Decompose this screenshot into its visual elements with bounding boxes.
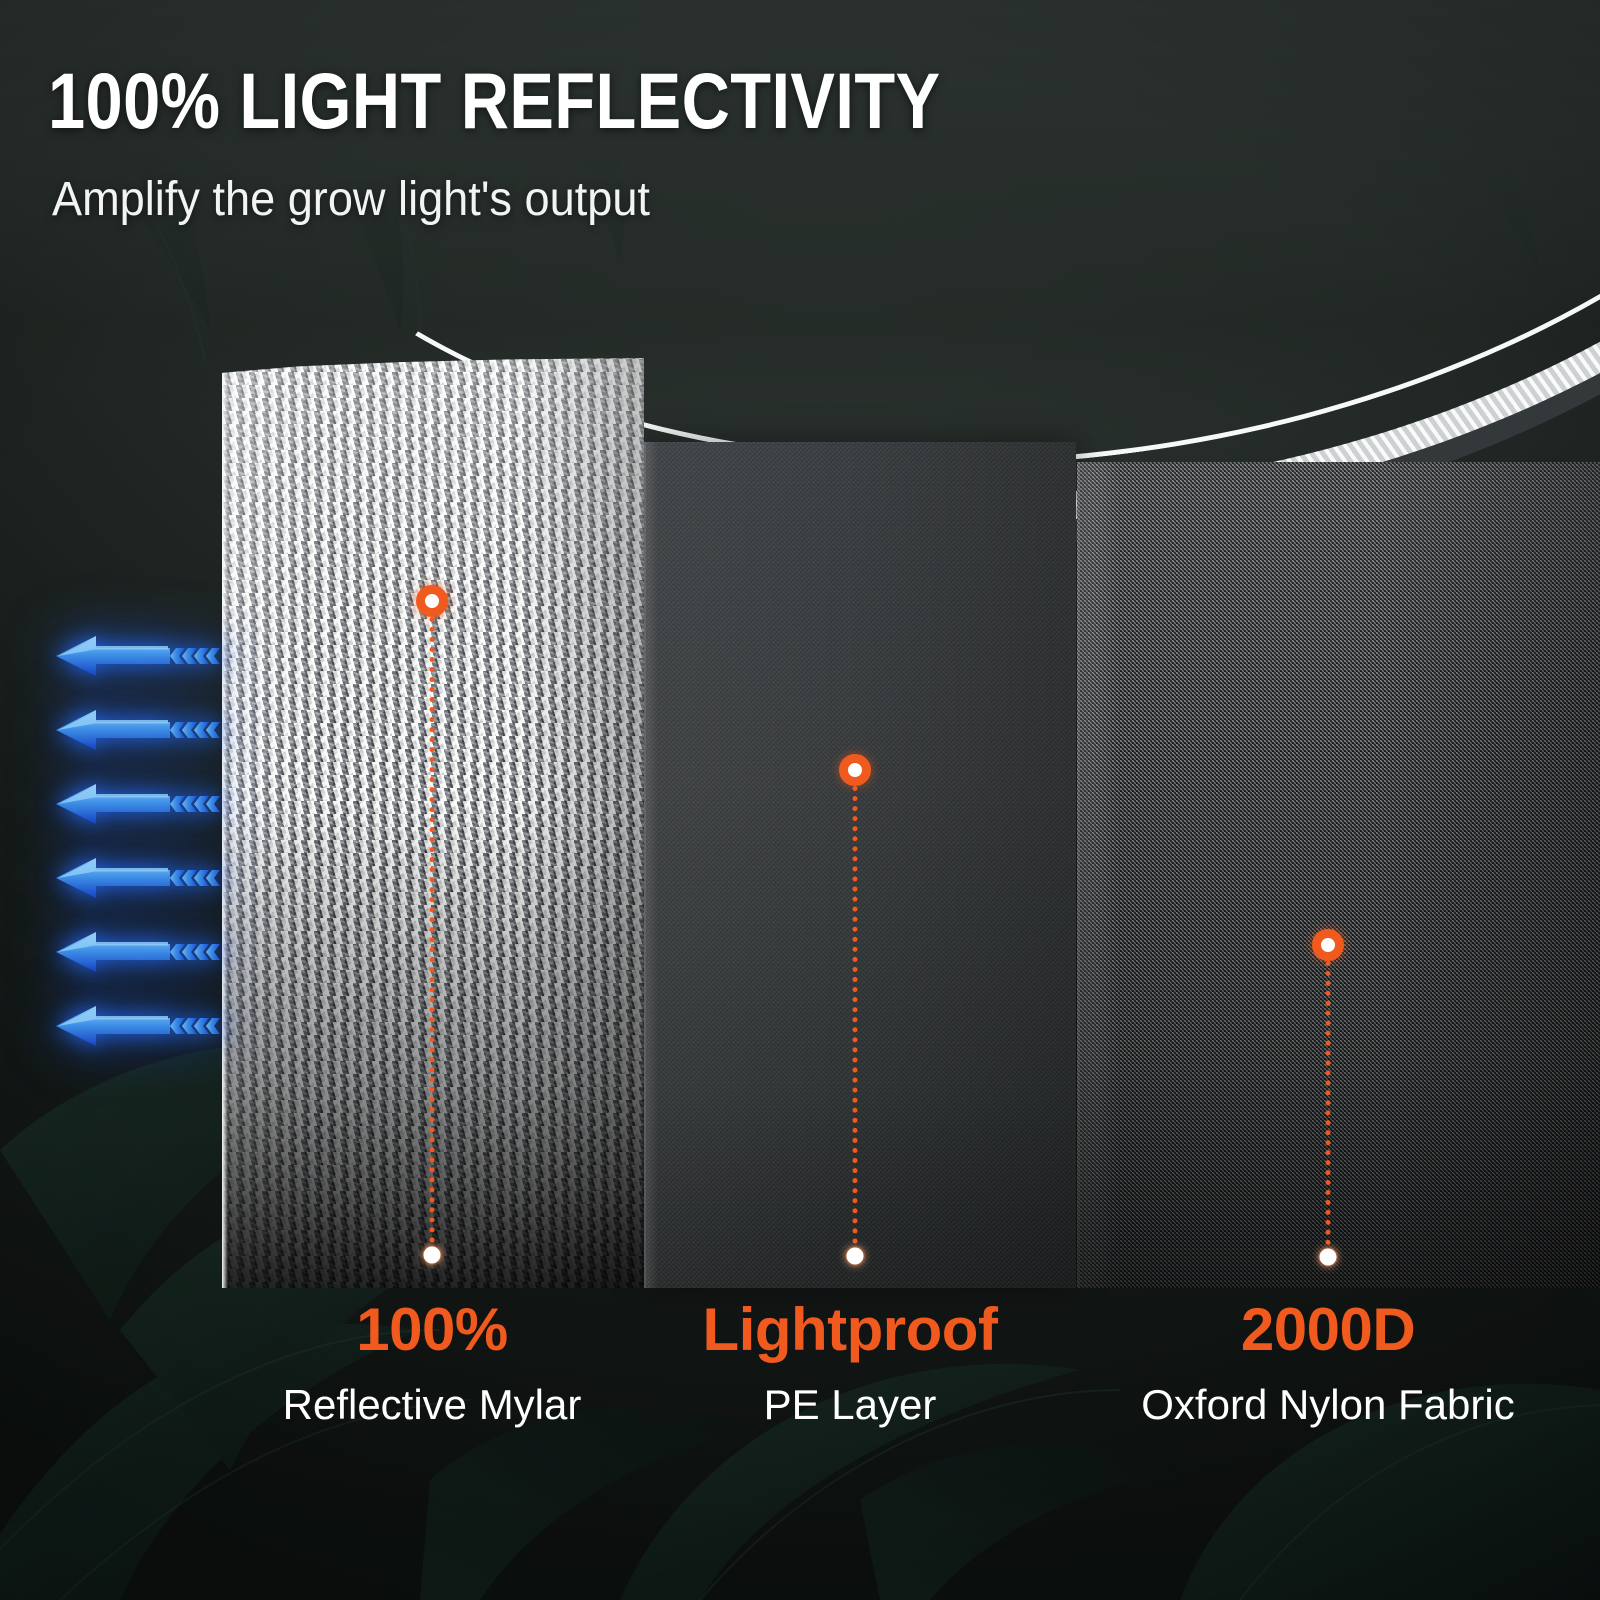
label-headline-nylon: 2000D bbox=[1078, 1300, 1578, 1360]
label-caption-pe: PE Layer bbox=[650, 1384, 1050, 1426]
label-caption-mylar: Reflective Mylar bbox=[232, 1384, 632, 1426]
callout-endpoint-nylon bbox=[1320, 1249, 1337, 1266]
infographic-canvas: 100% LIGHT REFLECTIVITY Amplify the grow… bbox=[0, 0, 1600, 1600]
callout-line-nylon bbox=[1326, 961, 1331, 1255]
label-headline-pe: Lightproof bbox=[650, 1300, 1050, 1360]
label-headline-mylar: 100% bbox=[232, 1300, 632, 1360]
label-caption-nylon: Oxford Nylon Fabric bbox=[1078, 1384, 1578, 1426]
callout-dot-nylon[interactable] bbox=[1312, 929, 1344, 961]
label-pe-layer: Lightproof PE Layer bbox=[650, 1300, 1050, 1426]
label-oxford-nylon: 2000D Oxford Nylon Fabric bbox=[1078, 1300, 1578, 1426]
label-reflective-mylar: 100% Reflective Mylar bbox=[232, 1300, 632, 1426]
